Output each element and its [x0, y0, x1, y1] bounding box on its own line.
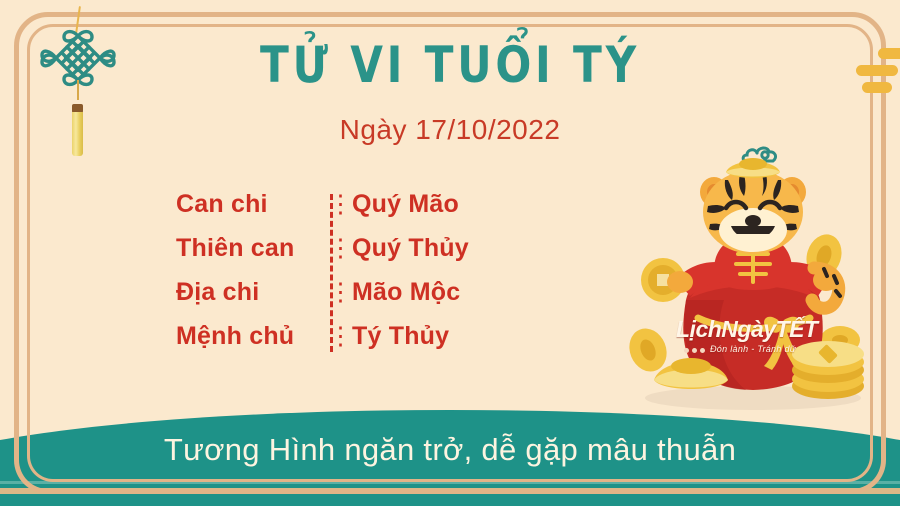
table-row: Thiên can ⋮ Quý Thủy	[176, 234, 506, 278]
banner-stripe-gold	[0, 488, 900, 494]
tiger-mascot-illustration: LịchNgàyTẾT Đón lành - Tránh dữ	[628, 150, 878, 415]
banner-stripe-light	[0, 481, 900, 484]
row-label: Thiên can	[176, 234, 328, 263]
horoscope-card: TỬ VI TUỔI TÝ Ngày 17/10/2022 Can chi ⋮ …	[0, 0, 900, 506]
table-divider	[330, 194, 333, 352]
brand-watermark: LịchNgàyTẾT Đón lành - Tránh dữ	[676, 316, 836, 350]
brand-tagline: Đón lành - Tránh dữ	[710, 344, 836, 354]
row-value: Mão Mộc	[352, 278, 460, 307]
table-row: Địa chi ⋮ Mão Mộc	[176, 278, 506, 322]
brand-name: LịchNgàyTẾT	[676, 316, 836, 343]
row-value: Quý Mão	[352, 190, 459, 219]
page-title: TỬ VI TUỔI TÝ	[27, 36, 873, 94]
row-value: Quý Thủy	[352, 234, 469, 263]
date-label: Ngày 17/10/2022	[0, 114, 900, 146]
row-label: Mệnh chủ	[176, 322, 328, 351]
row-value: Tý Thủy	[352, 322, 449, 351]
banner-message: Tương Hình ngăn trở, dễ gặp mâu thuẫn	[0, 432, 900, 468]
row-label: Địa chi	[176, 278, 328, 307]
table-row: Mệnh chủ ⋮ Tý Thủy	[176, 322, 506, 366]
bottom-banner: Tương Hình ngăn trở, dễ gặp mâu thuẫn	[0, 402, 900, 506]
info-table: Can chi ⋮ Quý Mão Thiên can ⋮ Quý Thủy Đ…	[176, 190, 506, 366]
brand-dots	[684, 340, 708, 358]
row-label: Can chi	[176, 190, 328, 219]
tiger-money-bag-icon	[628, 150, 878, 415]
table-row: Can chi ⋮ Quý Mão	[176, 190, 506, 234]
